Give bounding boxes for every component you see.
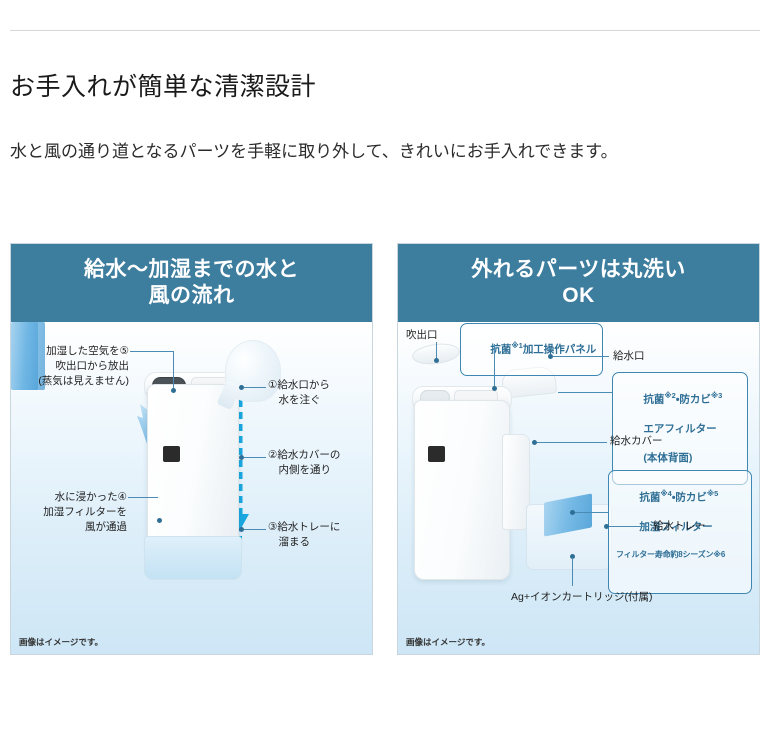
leader-outlet-v: [173, 351, 174, 391]
callout-water-tray: 給水トレー: [653, 519, 706, 534]
footnote-right: 画像はイメージです。: [406, 636, 490, 648]
leader-hum-filter: [574, 512, 608, 513]
callout-water-cover: 給水カバー: [610, 434, 663, 449]
leader-tray: [244, 529, 266, 530]
leader-filter: [128, 497, 158, 498]
callout-hum-filter-mark2: ※5: [707, 489, 718, 498]
callout-air-filter-mark2: ※3: [711, 391, 722, 400]
leader-dot-hum-filter: [570, 510, 575, 515]
leader-cover: [244, 457, 266, 458]
callout-hum-filter-mark1: ※4: [660, 489, 671, 498]
unit-main-body: [147, 384, 239, 560]
callout-air-outlet: 吹出口: [406, 328, 438, 343]
leader-panel-box: [494, 344, 495, 388]
leader-dot-outlet: [171, 388, 176, 393]
callout-air-filter-b: ・防カビ: [676, 394, 711, 406]
callout-hum-filter-b: ・防カビ: [672, 492, 707, 504]
callout-inlet: ①給水口から 水を注ぐ: [268, 378, 372, 408]
leader-cartridge: [572, 558, 573, 586]
leader-water-cover: [537, 442, 607, 443]
callout-hum-filter-sub: フィルター寿命約8シーズン※6: [616, 549, 744, 560]
panel-water-airflow: 給水〜加湿までの水と 風の流れ: [10, 243, 373, 655]
leader-dot-air-outlet: [434, 358, 439, 363]
callout-outlet: 加湿した空気を⑤ 吹出口から放出 (蒸気は見えません): [17, 344, 129, 389]
intro-paragraph: 水と風の通り道となるパーツを手軽に取り外して、きれいにお手入れできます。: [10, 137, 762, 167]
callout-panel-box-mark: ※1: [511, 341, 522, 350]
callout-hum-filter-a: 抗菌: [639, 492, 660, 504]
panel-right-title: 外れるパーツは丸洗い OK: [398, 244, 759, 322]
callout-air-filter-line3: (本体背面): [643, 452, 692, 464]
leader-water-tray: [609, 526, 649, 527]
panel-washable-parts: 外れるパーツは丸洗い OK 吹出口 抗菌※1加工操作パネル: [397, 243, 760, 655]
top-divider: [10, 30, 760, 31]
footnote-left: 画像はイメージです。: [19, 636, 103, 648]
leader-outlet: [130, 351, 174, 352]
callout-tray: ③給水トレーに 溜まる: [268, 520, 372, 550]
callout-air-filter-a: 抗菌: [643, 394, 664, 406]
unit-water-tray: [144, 536, 242, 580]
leader-inlet: [244, 387, 266, 388]
panel-left-illustration: 加湿した空気を⑤ 吹出口から放出 (蒸気は見えません) ①給水口から 水を注ぐ …: [11, 322, 372, 655]
leader-air-filter: [558, 392, 612, 393]
brand-logo-right: [428, 446, 445, 462]
callout-cover: ②給水カバーの 内側を通り: [268, 448, 372, 478]
callout-filter: 水に浸かった④ 加湿フィルターを 風が通過: [15, 490, 127, 535]
callout-panel-box: 抗菌※1加工操作パネル: [460, 323, 603, 376]
callout-cartridge: Ag+イオンカートリッジ(付属): [511, 590, 652, 605]
callout-water-inlet: 給水口: [613, 349, 645, 364]
callout-panel-box-rest: 加工操作パネル: [523, 344, 597, 356]
leader-dot-filter: [157, 518, 162, 523]
page-root: お手入れが簡単な清潔設計 水と風の通り道となるパーツを手軽に取り外して、きれいに…: [0, 0, 770, 733]
leader-water-inlet: [553, 356, 609, 357]
page-title: お手入れが簡単な清潔設計: [10, 72, 316, 102]
callout-air-filter-mark1: ※2: [664, 391, 675, 400]
leader-dot-panel-box: [492, 386, 497, 391]
callout-air-filter: 抗菌※2・防カビ※3 エアフィルター (本体背面): [612, 372, 748, 485]
panel-right-illustration: 吹出口 抗菌※1加工操作パネル 給水口 抗菌※2・防カビ※3 エアフィルター (…: [398, 322, 759, 655]
unit-main-body-right: [414, 400, 510, 580]
panel-left-title: 給水〜加湿までの水と 風の流れ: [11, 244, 372, 322]
brand-logo: [163, 446, 180, 462]
